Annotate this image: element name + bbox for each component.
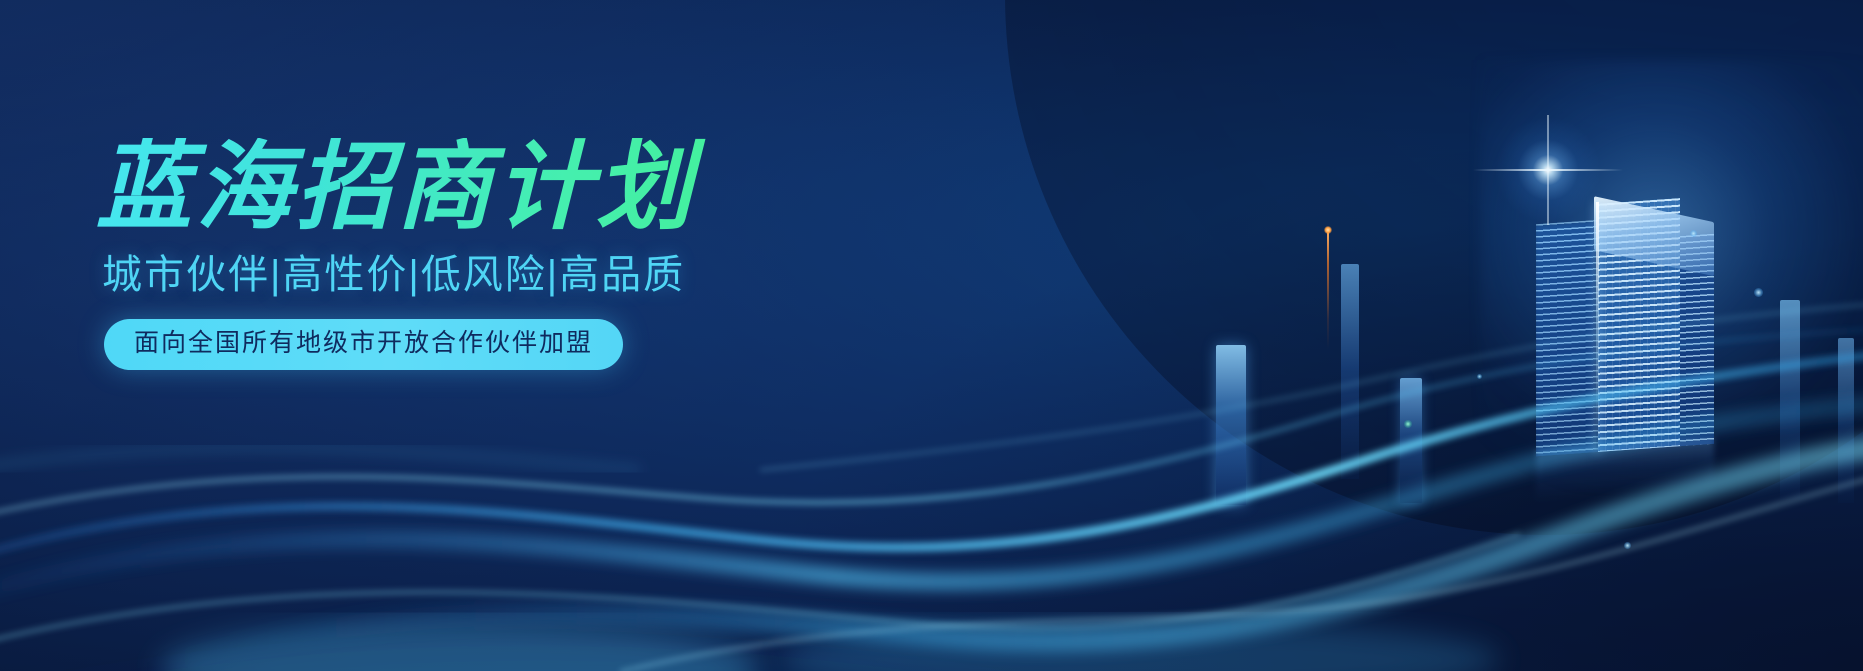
- banner-subheadline: 城市伙伴|高性价|低风险|高品质: [102, 253, 856, 297]
- banner-content: 蓝海招商计划 城市伙伴|高性价|低风险|高品质 面向全国所有地级市开放合作伙伴加…: [96, 138, 856, 370]
- banner-tagline-pill[interactable]: 面向全国所有地级市开放合作伙伴加盟: [104, 319, 623, 371]
- promo-banner: 蓝海招商计划 城市伙伴|高性价|低风险|高品质 面向全国所有地级市开放合作伙伴加…: [0, 0, 1863, 671]
- banner-headline: 蓝海招商计划: [96, 138, 856, 239]
